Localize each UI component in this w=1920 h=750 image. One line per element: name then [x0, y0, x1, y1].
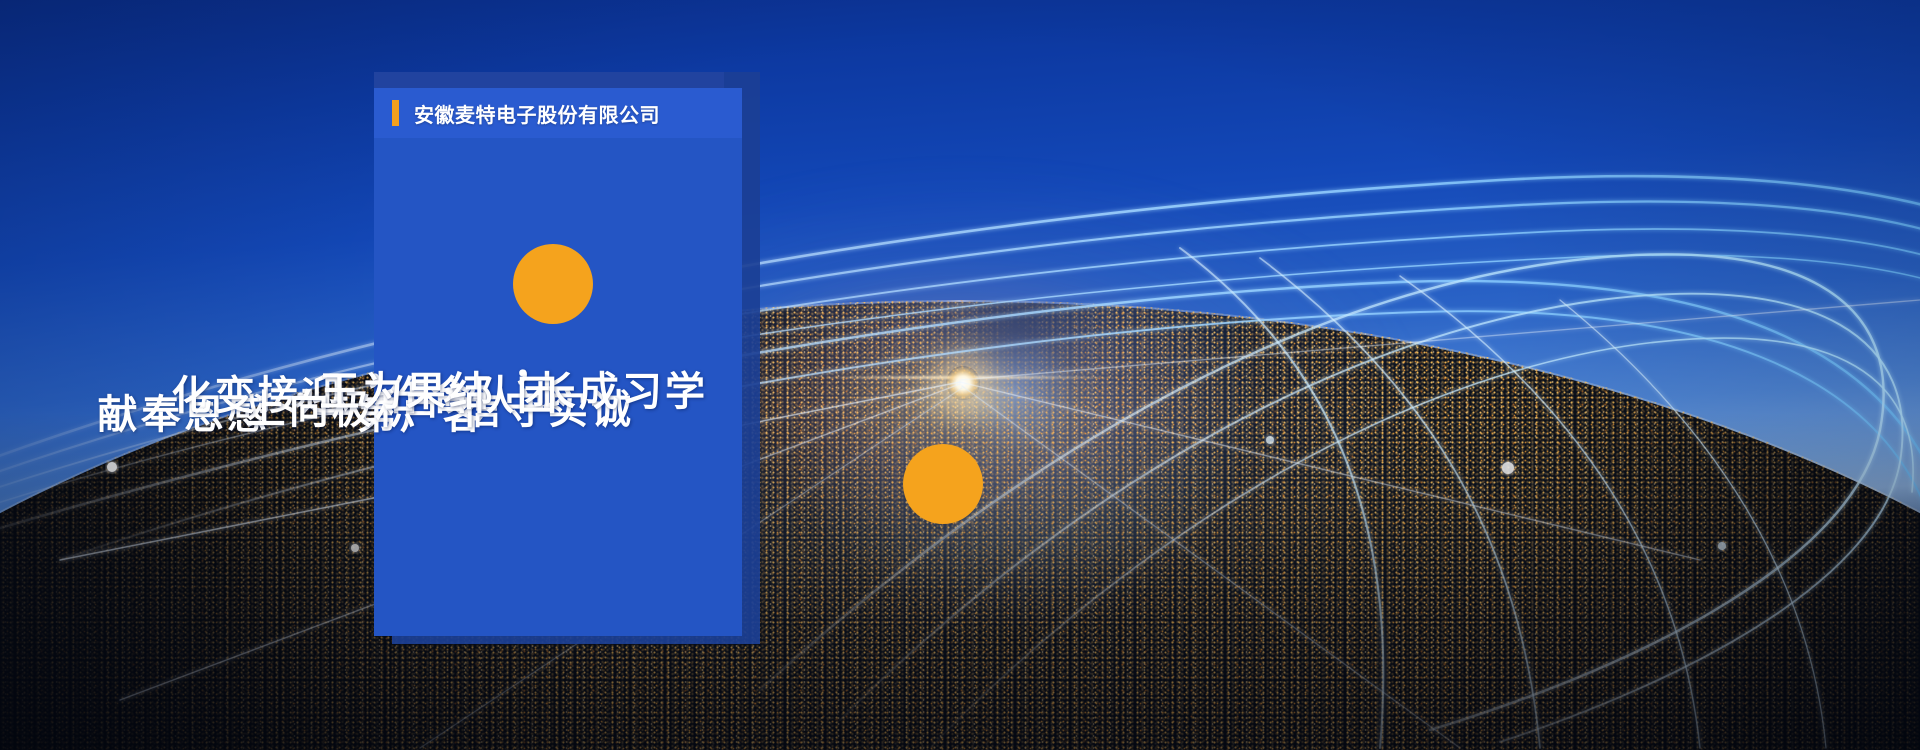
slogan-char: 上	[240, 388, 283, 431]
slogan-column-2: 团 队 合 作 ， 迎 接 变 化	[487, 146, 555, 636]
result-highlight-badge	[903, 444, 983, 524]
card-header: 安徽麦特电子股份有限公司	[374, 88, 742, 138]
team-highlight-badge	[513, 244, 593, 324]
banner-stage: 安徽麦特电子股份有限公司 学 习 成 长 ， 结 果 为 王 诚 实 守 信	[0, 0, 1920, 750]
slogan-char: 成	[573, 370, 616, 413]
slogan-char: 为	[358, 370, 401, 413]
company-name-title: 安徽麦特电子股份有限公司	[414, 99, 660, 128]
slogan-column-4: 学 习 成 长 ， 结 果 为 王	[635, 146, 703, 636]
slogan-char-highlight: 果	[401, 370, 444, 413]
slogan-char: 王	[314, 370, 357, 413]
slogan-char: 习	[617, 370, 660, 413]
orange-accent-bar	[392, 100, 399, 126]
slogan-columns: 学 习 成 长 ， 结 果 为 王 诚 实 守 信 ， 积 极 向 上	[374, 146, 742, 636]
slogan-char: 献	[92, 393, 135, 436]
slogan-char-highlight: 队	[469, 374, 512, 417]
card-top-band	[374, 72, 724, 89]
slogan-char: 学	[660, 370, 703, 413]
slogan-char-highlight: 团	[512, 374, 555, 417]
company-culture-card: 安徽麦特电子股份有限公司 学 习 成 长 ， 结 果 为 王 诚 实 守 信	[374, 88, 742, 636]
slogan-char: 化	[166, 374, 209, 417]
